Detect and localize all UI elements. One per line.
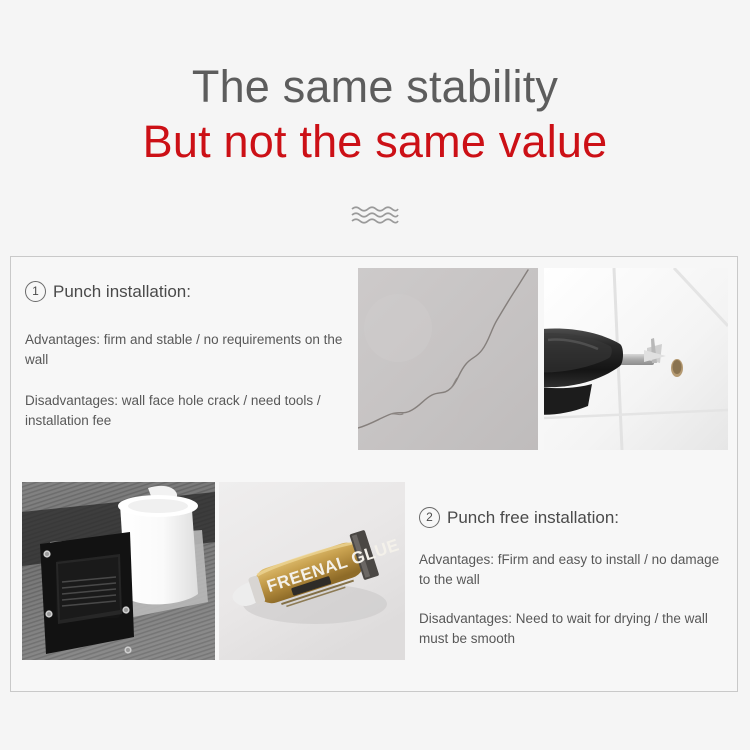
section-punch-free-installation: FREENAL GLUE 2 Punch free installation: … bbox=[11, 473, 739, 673]
step-number-2: 2 bbox=[419, 507, 440, 528]
section-punch-installation: 1 Punch installation: Advantages: firm a… bbox=[11, 257, 739, 457]
section-1-disadvantages: Disadvantages: wall face hole crack / ne… bbox=[25, 391, 355, 430]
drill-in-wall-photo bbox=[544, 268, 728, 450]
section-1-text: 1 Punch installation: Advantages: firm a… bbox=[25, 281, 355, 430]
section-1-heading-label: Punch installation: bbox=[53, 282, 191, 302]
section-2-heading-label: Punch free installation: bbox=[447, 508, 619, 528]
section-2-disadvantages: Disadvantages: Need to wait for drying /… bbox=[419, 609, 727, 648]
section-2-heading: 2 Punch free installation: bbox=[419, 507, 727, 528]
cracked-wall-photo bbox=[358, 268, 538, 450]
section-2-text: 2 Punch free installation: Advantages: f… bbox=[419, 507, 727, 648]
headings-block: The same stability But not the same valu… bbox=[0, 62, 750, 168]
content-panel: 1 Punch installation: Advantages: firm a… bbox=[10, 256, 738, 692]
step-number-1: 1 bbox=[25, 281, 46, 302]
section-2-advantages: Advantages: fFirm and easy to install / … bbox=[419, 550, 727, 589]
wall-holder-photo bbox=[22, 482, 215, 660]
section-1-heading: 1 Punch installation: bbox=[25, 281, 355, 302]
title-primary: The same stability bbox=[0, 62, 750, 112]
wave-divider-icon bbox=[351, 203, 399, 225]
glue-tube-photo: FREENAL GLUE bbox=[219, 482, 405, 660]
title-secondary: But not the same value bbox=[0, 116, 750, 168]
section-1-advantages: Advantages: firm and stable / no require… bbox=[25, 330, 355, 369]
